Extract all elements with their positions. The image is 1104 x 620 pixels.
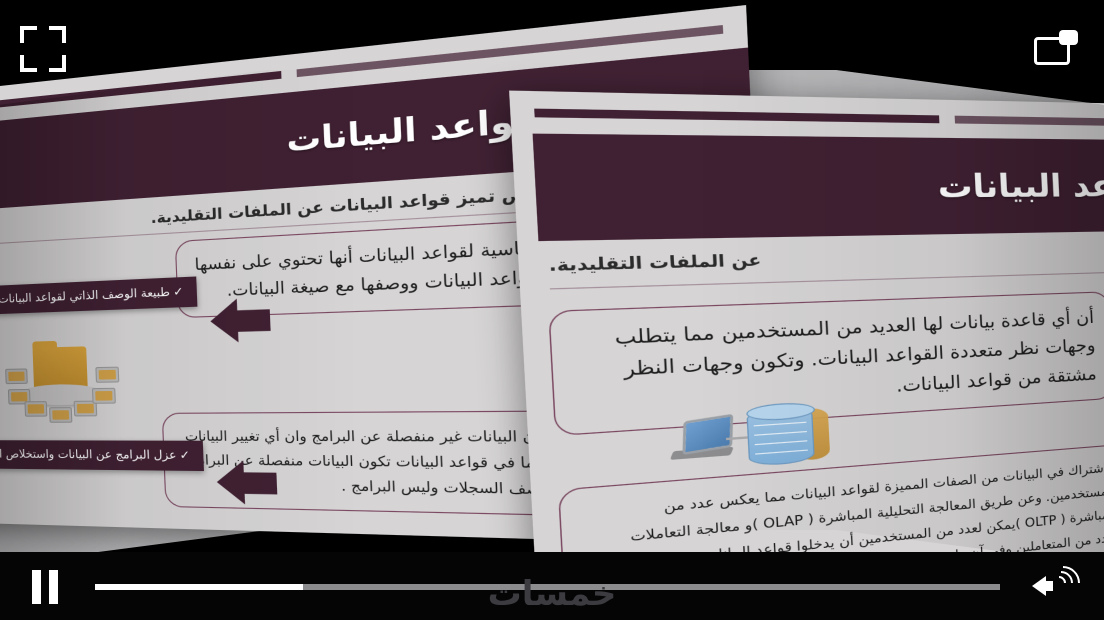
slide-right: خصائص قواعد البيانات عن الملفات التقليدي… — [509, 91, 1104, 620]
laptop-icon — [5, 368, 28, 384]
laptop-icon — [95, 367, 119, 383]
video-player: خصائص قواعد البيانات هناك عدد من الخصائص… — [0, 0, 1104, 620]
pause-icon-bar-right — [49, 570, 58, 604]
slide-left-chip-top: ✓طبيعة الوصف الذاتي لقواعد البيانات: — [0, 276, 197, 314]
pause-button[interactable] — [30, 570, 64, 604]
volume-button[interactable] — [1030, 566, 1082, 606]
folder-icon — [33, 346, 88, 389]
rule-primary — [534, 109, 940, 124]
fullscreen-button[interactable] — [20, 26, 66, 72]
database-cylinder — [746, 406, 815, 467]
laptop-icon — [92, 388, 116, 404]
slide-right-subtitle: عن الملفات التقليدية. — [548, 240, 1104, 275]
slide-right-paragraph-top-text: أن أي قاعدة بيانات لها العديد من المستخد… — [614, 307, 1097, 396]
check-icon: ✓ — [179, 448, 190, 462]
slide-left-chip-top-text: طبيعة الوصف الذاتي لقواعد البيانات: — [0, 285, 170, 306]
check-icon: ✓ — [173, 285, 184, 299]
watermark: خمسات — [0, 574, 1104, 614]
picture-in-picture-button[interactable] — [1032, 28, 1078, 74]
player-bottom-controls: خمسات — [0, 552, 1104, 620]
laptop-icon — [49, 407, 72, 423]
rule-secondary — [955, 116, 1104, 129]
slide-right-title: خصائص قواعد البيانات — [937, 167, 1104, 205]
laptop-icon — [24, 401, 47, 417]
pause-icon-bar-left — [32, 570, 41, 604]
video-stage[interactable]: خصائص قواعد البيانات هناك عدد من الخصائص… — [0, 0, 1104, 620]
progress-bar[interactable] — [95, 584, 1000, 590]
slide-left-chip-bottom: ✓عزل البرامج عن البيانات واستخلاص البيان… — [0, 440, 204, 471]
progress-bar-filled — [95, 584, 303, 590]
slide-right-top-rules — [534, 109, 1104, 132]
slide-left-chip-bottom-text: عزل البرامج عن البيانات واستخلاص البيانا… — [0, 447, 177, 462]
folder-network-illustration — [6, 345, 123, 428]
slide-right-title-band: خصائص قواعد البيانات — [533, 134, 1104, 242]
